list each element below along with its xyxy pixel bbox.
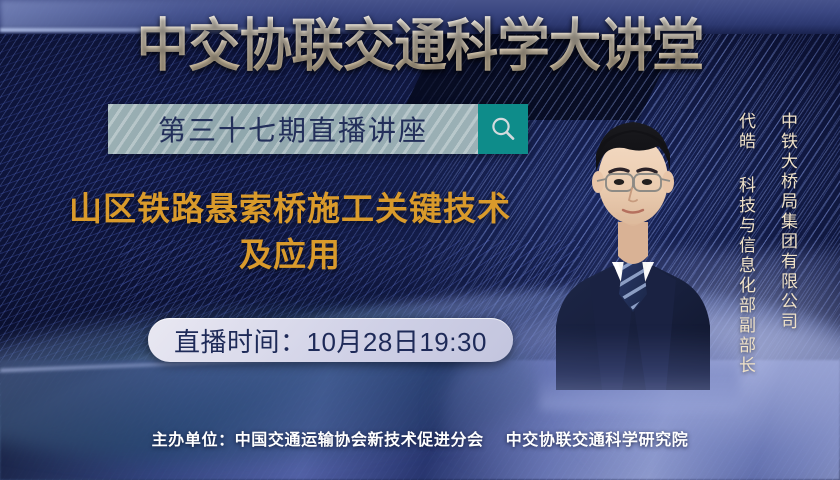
lecture-title-line2: 及应用 (30, 232, 550, 278)
poster-main-title: 中交协联交通科学大讲堂 (34, 14, 807, 78)
subtitle-bar: 第三十七期直播讲座 (108, 104, 528, 154)
subtitle-label: 第三十七期直播讲座 (158, 109, 428, 149)
broadcast-time-badge: 直播时间：10月28日19:30 (148, 318, 513, 362)
broadcast-time-text: 直播时间：10月28日19:30 (174, 322, 487, 359)
lecture-title-line1: 山区铁路悬索桥施工关键技术 (69, 190, 511, 227)
lecture-title: 山区铁路悬索桥施工关键技术 及应用 (30, 186, 550, 278)
search-icon (489, 115, 517, 143)
search-button[interactable] (478, 104, 528, 154)
speaker-role: 科技与信息化部副部长 (735, 176, 756, 376)
speaker-portrait (546, 96, 720, 390)
footer-organizers: 主办单位：中国交通运输协会新技术促进分会中交协联交通科学研究院 (0, 426, 840, 450)
lecture-poster: 中交协联交通科学大讲堂 中交协联交通科学大讲堂 第三十七期直播讲座 山区铁路悬索… (0, 0, 840, 480)
speaker-name: 代皓 (735, 112, 756, 152)
footer-prefix: 主办单位： (152, 432, 235, 449)
footer-org-2: 中交协联交通科学研究院 (506, 432, 689, 449)
footer-org-1: 中国交通运输协会新技术促进分会 (235, 432, 484, 449)
subtitle-field: 第三十七期直播讲座 (108, 104, 478, 154)
speaker-organization: 中铁大桥局集团有限公司 (777, 112, 798, 332)
